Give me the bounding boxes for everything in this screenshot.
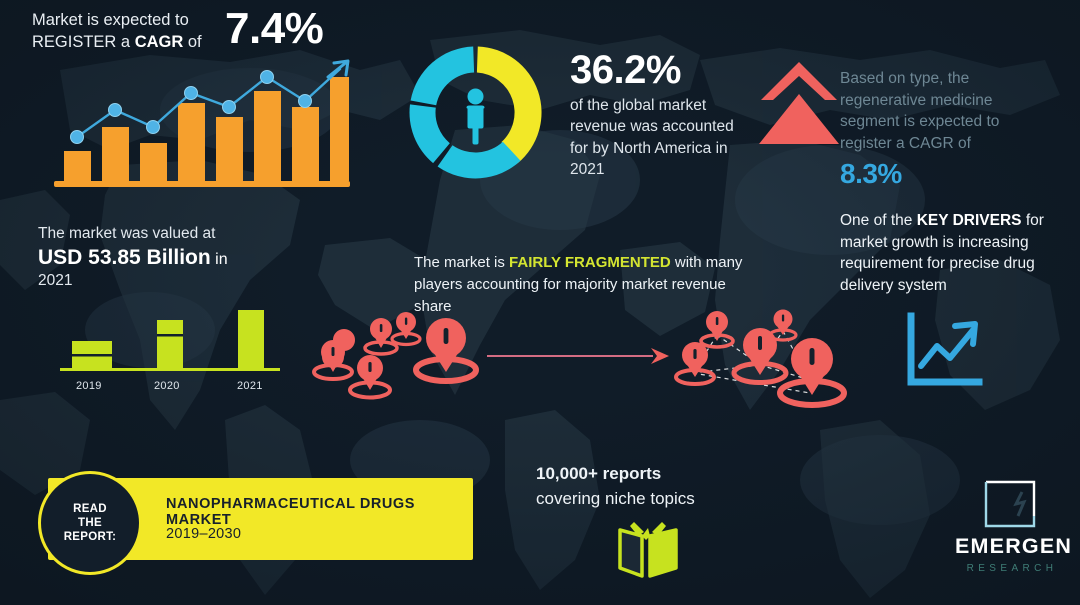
double-chevron-up-icon <box>757 58 841 150</box>
map-pin-icon <box>701 311 733 347</box>
market-value-number: USD 53.85 Billion <box>38 246 211 269</box>
key-drivers-statement: One of the KEY DRIVERS for market growth… <box>840 210 1062 297</box>
market-value-amount: USD 53.85 Billion in <box>38 246 228 270</box>
flow-arrow <box>487 345 672 367</box>
market-value-bar-chart: 2019 2020 2021 <box>60 310 280 380</box>
green-bars <box>72 310 264 370</box>
logo-square-icon <box>980 478 1040 532</box>
north-america-description: of the global market revenue was account… <box>570 95 750 181</box>
report-years: 2019–2030 <box>166 526 241 542</box>
cagr-value: 7.4% <box>225 4 323 54</box>
reports-count-line2: covering niche topics <box>536 489 695 508</box>
market-value-year: 2021 <box>38 272 72 290</box>
market-value-label: The market was valued at <box>38 225 215 243</box>
key-drivers-pre: One of the <box>840 212 917 229</box>
map-pin-icon <box>416 318 476 381</box>
connected-map-pins-network <box>665 305 855 423</box>
cagr-line2-pre: REGISTER a <box>32 33 135 51</box>
reports-count-statement: 10,000+ reports covering niche topics <box>536 462 695 511</box>
map-pin-icon <box>314 329 355 379</box>
scattered-map-pins <box>305 310 490 410</box>
person-icon <box>467 89 485 145</box>
donut-slice-rest-3 <box>411 47 475 106</box>
report-title: NANOPHARMACEUTICAL DRUGS MARKET <box>166 496 473 528</box>
cagr-line2-post: of <box>183 33 201 51</box>
green-chart-baseline <box>60 368 280 371</box>
infographic-canvas: Market is expected to REGISTER a CAGR of… <box>0 0 1080 605</box>
map-pin-icon <box>392 312 420 345</box>
regenerative-cagr-value: 8.3% <box>840 158 902 190</box>
regenerative-description: Based on type, the regenerative medicine… <box>840 68 1055 154</box>
green-chart-label-2020: 2020 <box>154 380 180 392</box>
fragmentation-bold: FAIRLY FRAGMENTED <box>509 254 671 271</box>
north-america-value: 36.2% <box>570 48 681 93</box>
logo-subtitle: RESEARCH <box>955 563 1069 574</box>
reports-count-line1: 10,000+ reports <box>536 464 661 483</box>
market-growth-bar-chart <box>50 55 350 190</box>
donut-slice-rest-2 <box>409 104 449 163</box>
green-chart-label-2021: 2021 <box>237 380 263 392</box>
green-chart-label-2019: 2019 <box>76 380 102 392</box>
map-pin-icon <box>676 342 714 384</box>
fragmentation-pre: The market is <box>414 254 509 271</box>
chart-baseline <box>54 181 350 187</box>
map-pin-icon <box>350 355 390 398</box>
orange-bars <box>64 77 349 181</box>
open-book-icon <box>614 518 682 580</box>
line-chart-up-icon <box>905 312 983 390</box>
trend-arrowhead <box>328 61 348 77</box>
read-the-report-button[interactable]: READ THE REPORT: <box>38 471 142 575</box>
key-drivers-bold: KEY DRIVERS <box>917 212 1022 229</box>
map-pin-icon <box>780 338 844 405</box>
donut-slice-north-america <box>477 47 542 164</box>
north-america-donut-chart <box>398 35 553 190</box>
cagr-line2-bold: CAGR <box>135 33 184 51</box>
map-pin-icon <box>734 328 786 383</box>
logo-name: EMERGEN <box>955 536 1065 558</box>
emergen-research-logo: EMERGEN RESEARCH <box>955 478 1065 574</box>
market-value-suffix: in <box>211 251 228 268</box>
read-the-report-label: READ THE REPORT: <box>64 502 117 544</box>
cagr-line1: Market is expected to <box>32 11 189 29</box>
